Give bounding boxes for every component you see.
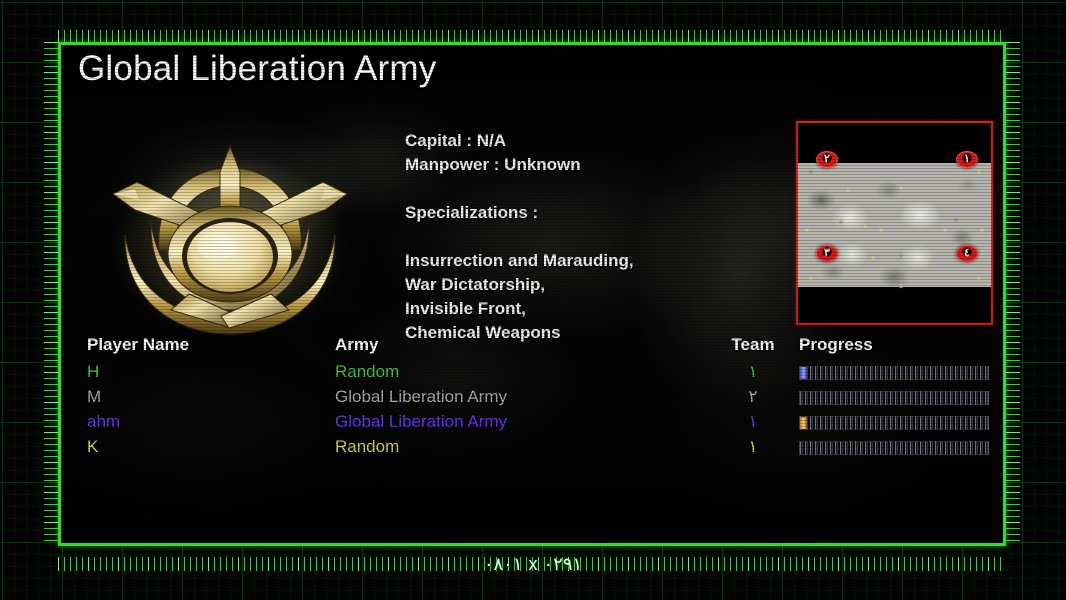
player-team: ١ (723, 412, 783, 432)
page-title: Global Liberation Army (78, 49, 436, 89)
info-capital: Capital : N/A (405, 129, 785, 153)
game-screen: Global Liberation Army (0, 0, 1066, 600)
player-army: Global Liberation Army (335, 412, 507, 432)
player-army: Random (335, 437, 399, 457)
info-manpower: Manpower : Unknown (405, 153, 785, 177)
player-name: K (87, 437, 98, 457)
start-position-label: ٢ (824, 154, 830, 165)
progress-bar-fill (800, 417, 807, 429)
player-row[interactable]: HRandom١ (78, 362, 992, 387)
progress-bar (799, 441, 989, 455)
specialization-item: War Dictatorship, (405, 273, 785, 297)
player-row[interactable]: ahmGlobal Liberation Army١ (78, 412, 992, 437)
progress-bar (799, 366, 989, 380)
ruler-tick-left-major (44, 42, 58, 546)
player-team: ١ (723, 437, 783, 457)
progress-bar (799, 416, 989, 430)
player-progress-cell (799, 412, 989, 430)
ruler-tick-right-major (1006, 42, 1020, 546)
map-preview-terrain (798, 163, 991, 287)
player-row[interactable]: MGlobal Liberation Army٢ (78, 387, 992, 412)
info-spacer-2 (405, 225, 785, 249)
column-header-team: Team (723, 335, 783, 355)
column-header-player-name: Player Name (87, 335, 189, 355)
player-progress-cell (799, 362, 989, 380)
start-position-label: ١ (964, 154, 970, 165)
faction-info-panel: Global Liberation Army (58, 42, 1006, 546)
player-team: ٢ (723, 387, 783, 407)
player-row[interactable]: KRandom١ (78, 437, 992, 462)
start-position-marker[interactable]: ١ (956, 151, 978, 168)
resolution-readout: ١٩٢٠ x ١٠٨٠ (0, 554, 1066, 575)
player-list: Player Name Army Team Progress HRandom١M… (78, 335, 992, 462)
start-position-marker[interactable]: ٣ (816, 245, 838, 262)
player-progress-cell (799, 437, 989, 455)
ruler-tick-left (44, 42, 58, 546)
player-team: ١ (723, 362, 783, 382)
info-specializations-label: Specializations : (405, 201, 785, 225)
column-header-progress: Progress (799, 335, 873, 355)
player-progress-cell (799, 387, 989, 405)
column-header-army: Army (335, 335, 378, 355)
map-preview[interactable]: ٢١٣٤ (796, 121, 993, 325)
start-position-marker[interactable]: ٢ (816, 151, 838, 168)
start-position-label: ٤ (964, 248, 970, 259)
specialization-item: Insurrection and Marauding, (405, 249, 785, 273)
player-name: ahm (87, 412, 120, 432)
player-army: Global Liberation Army (335, 387, 507, 407)
player-name: M (87, 387, 101, 407)
gla-emblem (105, 138, 355, 338)
specialization-item: Invisible Front, (405, 297, 785, 321)
info-spacer-1 (405, 177, 785, 201)
progress-bar (799, 391, 989, 405)
player-name: H (87, 362, 99, 382)
start-position-label: ٣ (824, 248, 830, 259)
ruler-tick-right (1006, 42, 1020, 546)
start-position-marker[interactable]: ٤ (956, 245, 978, 262)
progress-bar-fill (800, 367, 807, 379)
player-army: Random (335, 362, 399, 382)
player-list-header: Player Name Army Team Progress (78, 335, 992, 362)
